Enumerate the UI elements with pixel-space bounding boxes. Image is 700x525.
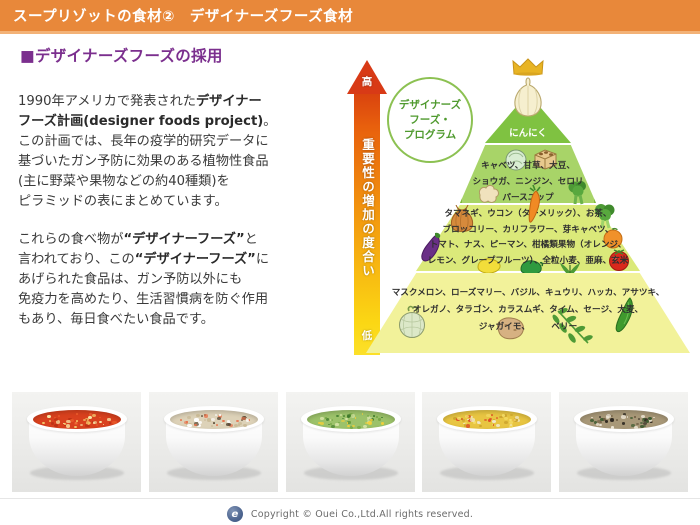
page-title: スープリゾットの食材② デザイナーズフーズ食材: [0, 5, 353, 26]
bowl-card-4: [422, 392, 551, 492]
soup-speck: [492, 420, 496, 423]
paragraph-2-line-1: これらの食べ物が“デザイナーフーズ”と: [18, 230, 338, 250]
soup-speck: [599, 424, 602, 426]
text-run-bold: “デザイナーフーズ”: [124, 232, 245, 247]
soup-speck: [74, 426, 77, 429]
soup-speck: [465, 415, 469, 418]
potato-icon: [494, 315, 526, 341]
soup-speck: [88, 422, 91, 424]
soup-speck: [653, 417, 655, 418]
soup-speck: [204, 414, 208, 417]
program-circle-badge: デザイナーズ フーズ・ プログラム: [387, 77, 473, 163]
onion-icon: [448, 205, 476, 235]
herb-sprig-icon: [552, 307, 594, 347]
soup-speck: [227, 420, 231, 423]
melon-icon: [396, 305, 428, 339]
section-heading: ■デザイナーズフーズの採用: [20, 44, 223, 66]
text-run: に: [256, 252, 269, 267]
soup-speck: [222, 420, 225, 422]
text-run-bold: デザイナー: [196, 94, 262, 109]
paragraph-1-line-3: この計画では、長年の疫学的研究データに: [18, 132, 338, 152]
soup-speck: [320, 422, 324, 425]
soup-speck: [51, 422, 54, 424]
soup-speck: [194, 418, 198, 421]
soup-speck: [488, 419, 491, 422]
soup-speck: [320, 417, 323, 420]
program-circle-line-3: プログラム: [404, 128, 456, 143]
garlic-icon: [509, 75, 547, 117]
soup-speck: [347, 414, 351, 417]
soup-speck: [630, 417, 633, 419]
cabbage-icon: [504, 147, 528, 171]
copyright-text: Copyright © Ouei Co.,Ltd.All rights rese…: [251, 509, 473, 520]
soup-speck: [335, 423, 338, 426]
soup-speck: [217, 417, 220, 420]
soup-speck: [331, 425, 335, 428]
body-text: 1990年アメリカで発表されたデザイナー フーズ計画(designer food…: [18, 92, 338, 330]
soup-speck: [207, 418, 211, 421]
soup-speck: [80, 424, 83, 427]
soup-speck: [204, 419, 207, 421]
soup-speck: [243, 424, 247, 427]
soup-speck: [461, 418, 463, 420]
soup-surface: [580, 410, 668, 429]
broccoli-icon: [566, 179, 590, 205]
slide-page: スープリゾットの食材② デザイナーズフーズ食材 ■デザイナーズフーズの採用 19…: [0, 0, 700, 525]
soup-speck: [362, 413, 364, 414]
crown-icon: [512, 58, 544, 76]
soup-speck: [348, 421, 351, 424]
soup-speck: [54, 418, 58, 421]
soup-speck: [493, 424, 495, 425]
soup-speck: [336, 415, 339, 417]
paragraph-2-line-3: あげられた食品は、ガン予防以外にも: [18, 270, 338, 290]
text-run: 言われており、この: [18, 252, 135, 267]
eggplant-icon: [420, 231, 444, 265]
soup-speck: [606, 414, 610, 418]
soup-speck: [622, 422, 625, 425]
cucumber-icon: [614, 295, 636, 335]
soup-speck: [352, 425, 355, 427]
soup-speck: [496, 424, 500, 427]
bowl-card-3: [286, 392, 415, 492]
soup-surface: [307, 410, 395, 429]
paragraph-1-line-4: 基づいたガン予防に効果のある植物性食品: [18, 152, 338, 172]
soup-speck: [368, 421, 372, 424]
soup-speck: [74, 422, 78, 425]
soup-speck: [462, 419, 465, 422]
soup-speck: [621, 415, 625, 418]
ginger-icon: [476, 181, 502, 205]
text-run-bold: “デザイナーフーズ”: [135, 252, 256, 267]
paragraph-1-line-2: フーズ計画(designer foods project)。: [18, 112, 338, 132]
soup-speck: [616, 419, 618, 421]
soup-speck: [363, 425, 367, 428]
soup-speck: [634, 416, 636, 417]
page-header: スープリゾットの食材② デザイナーズフーズ食材: [0, 0, 700, 31]
paragraph-1-line-5: (主に野菜や果物などの約40種類)を: [18, 172, 338, 192]
soup-surface: [33, 410, 121, 429]
soup-speck: [216, 424, 218, 426]
soup-speck: [109, 422, 111, 424]
paragraph-1-line-6: ピラミッドの表にまとめています。: [18, 192, 338, 212]
soup-speck: [88, 416, 92, 419]
soup-speck: [180, 419, 182, 421]
soup-speck: [187, 424, 191, 428]
soup-speck: [211, 425, 214, 427]
soup-speck: [347, 425, 350, 427]
soup-speck: [107, 418, 110, 421]
soup-speck: [186, 421, 188, 422]
soup-speck: [381, 417, 383, 419]
soup-speck: [99, 417, 101, 418]
soup-speck: [381, 422, 384, 425]
soup-speck: [241, 417, 245, 420]
text-run: 1990年アメリカで発表された: [18, 94, 196, 109]
paragraph-gap: [18, 212, 338, 230]
soup-speck: [484, 419, 487, 421]
header-underline: [0, 31, 700, 34]
soup-speck: [611, 426, 614, 429]
soup-speck: [112, 421, 116, 424]
soup-speck: [478, 422, 481, 424]
soup-speck: [496, 417, 498, 419]
tomato-icon: [606, 247, 632, 271]
soup-speck: [246, 417, 248, 418]
soup-speck: [638, 418, 640, 420]
tier-1-label: にんにく: [485, 125, 571, 139]
carrot-icon: [524, 185, 544, 225]
soup-speck: [504, 417, 508, 420]
soup-speck: [238, 422, 242, 425]
soup-speck: [76, 413, 78, 415]
soup-speck: [96, 424, 98, 426]
orange-icon: [602, 227, 624, 249]
soup-speck: [513, 419, 515, 421]
soup-speck: [510, 414, 513, 416]
soup-speck: [590, 419, 594, 422]
program-circle-line-1: デザイナーズ: [399, 98, 461, 113]
soup-speck: [330, 423, 332, 424]
text-run: これらの食べ物が: [18, 232, 124, 247]
bowl-card-5: [559, 392, 688, 492]
soup-surface: [170, 410, 258, 429]
soup-speck: [378, 418, 381, 420]
text-run-bold: フーズ計画(designer foods project): [18, 114, 263, 129]
soup-speck: [66, 424, 70, 427]
broccoli-icon: [592, 203, 618, 229]
soup-speck: [491, 414, 493, 416]
soup-speck: [627, 416, 629, 417]
soup-speck: [103, 424, 105, 425]
soup-speck: [211, 418, 215, 421]
soup-speck: [92, 414, 96, 417]
program-circle-line-2: フーズ・: [409, 113, 450, 128]
soup-speck: [470, 418, 474, 421]
soup-speck: [355, 417, 357, 418]
soup-speck: [47, 415, 51, 418]
text-run: と: [245, 232, 258, 247]
soup-surface: [443, 410, 531, 429]
soup-speck: [646, 420, 650, 423]
soup-speck: [605, 420, 608, 422]
soup-speck: [341, 420, 344, 423]
soup-speck: [331, 419, 333, 421]
pyramid-tier-3: タマネギ、ウコン（ターメリック）、お茶、 ブロッコリー、カリフラワー、芽キャベツ…: [416, 205, 640, 271]
soup-speck: [54, 424, 58, 427]
soup-speck: [187, 416, 191, 419]
soup-speck: [640, 422, 643, 425]
bowl-card-1: [12, 392, 141, 492]
bowl-card-2: [149, 392, 278, 492]
soup-speck: [343, 415, 345, 417]
soup-speck: [99, 421, 102, 423]
soup-speck: [486, 414, 490, 417]
soup-speck: [345, 418, 347, 420]
soup-speck: [213, 422, 216, 424]
soup-speck: [357, 426, 361, 429]
paragraph-1-line-1: 1990年アメリカで発表されたデザイナー: [18, 92, 338, 112]
soup-bowl-gallery: [12, 392, 688, 492]
soup-speck: [215, 414, 217, 416]
soup-speck: [93, 422, 95, 423]
paragraph-2-line-2: 言われており、この“デザイナーフーズ”に: [18, 250, 338, 270]
text-run: 。: [263, 114, 276, 129]
soup-speck: [196, 414, 200, 418]
soup-speck: [201, 415, 203, 417]
soup-speck: [246, 419, 250, 422]
soup-speck: [42, 422, 45, 425]
soup-speck: [479, 425, 482, 427]
soup-speck: [636, 423, 639, 425]
soup-speck: [226, 423, 229, 426]
soup-speck: [221, 423, 223, 424]
paragraph-2-line-5: もあり、毎日食べたい食品です。: [18, 310, 338, 330]
page-footer: e Copyright © Ouei Co.,Ltd.All rights re…: [0, 503, 700, 525]
soup-speck: [596, 423, 599, 426]
ouei-logo-icon: e: [227, 506, 243, 522]
soup-speck: [466, 424, 470, 427]
soup-speck: [58, 415, 60, 417]
soup-speck: [194, 424, 197, 426]
paragraph-2-line-4: 免疫力を高めたり、生活習慣病を防ぐ作用: [18, 290, 338, 310]
footer-divider: [0, 498, 700, 499]
soup-speck: [376, 416, 378, 418]
soup-speck: [643, 425, 647, 428]
soup-speck: [373, 415, 375, 417]
soybean-block-icon: [532, 148, 558, 170]
soup-speck: [464, 424, 467, 426]
pyramid-tier-4: マスクメロン、ローズマリー、バジル、キュウリ、ハッカ、アサツキ、 オレガノ、タラ…: [366, 273, 690, 353]
soup-speck: [504, 421, 508, 424]
soup-speck: [634, 426, 638, 429]
